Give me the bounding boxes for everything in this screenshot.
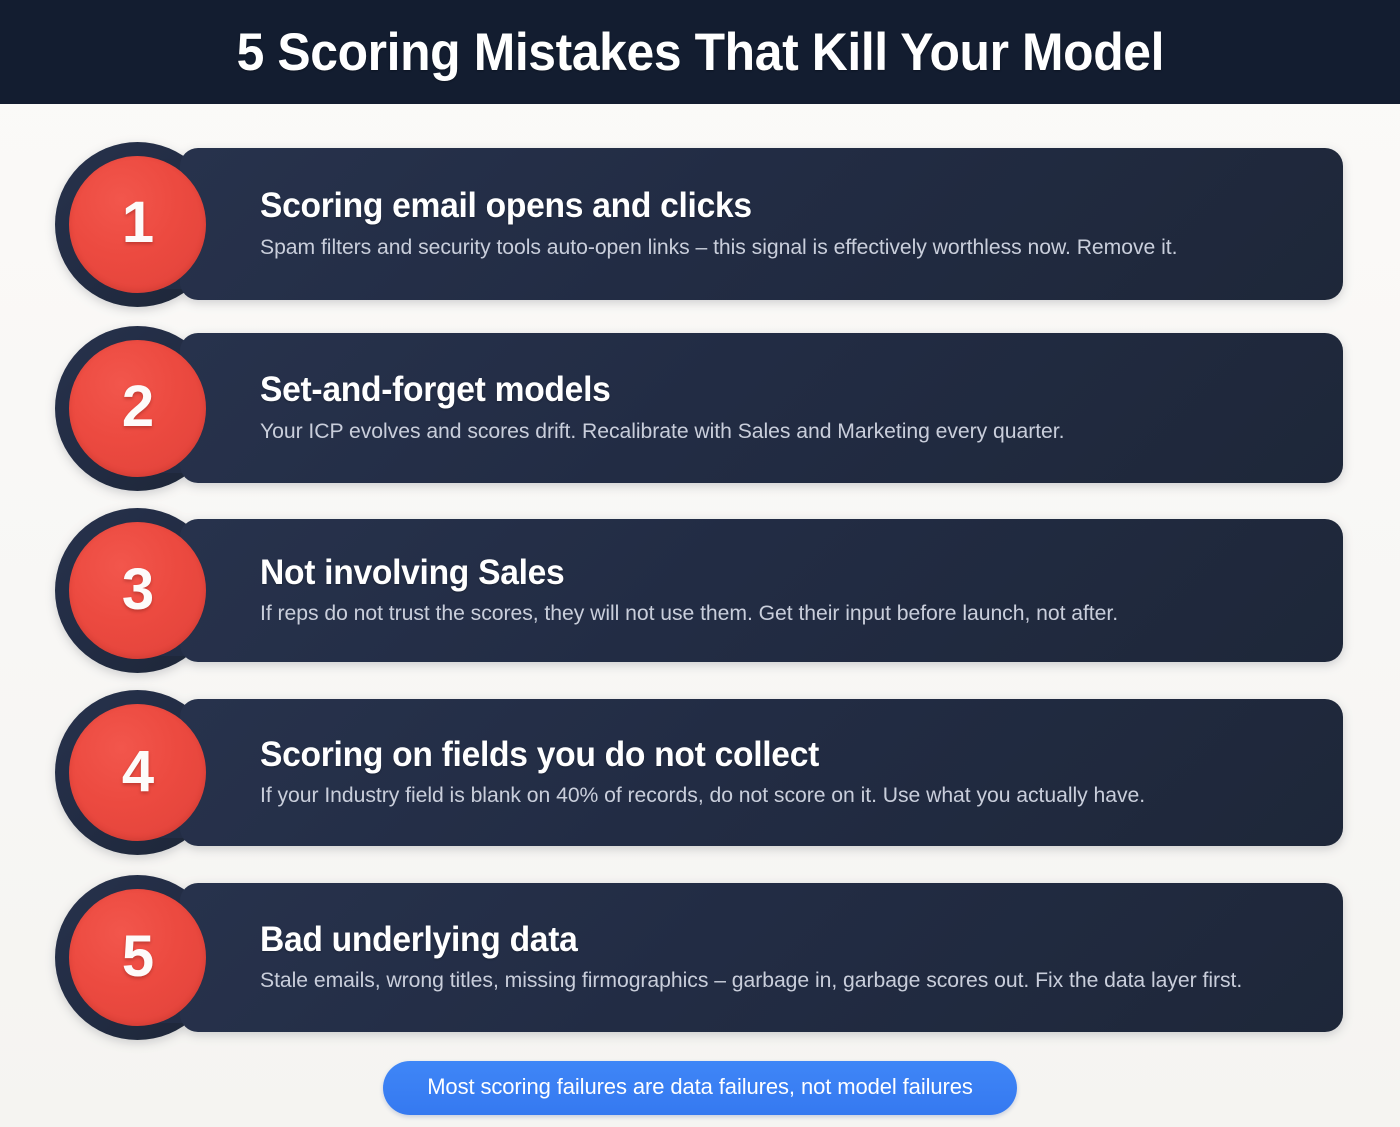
card-description: Spam filters and security tools auto-ope…: [260, 232, 1295, 262]
rank-number: 3: [122, 561, 153, 619]
header-bar: 5 Scoring Mistakes That Kill Your Model: [0, 0, 1400, 104]
card-description: If your Industry field is blank on 40% o…: [260, 780, 1295, 810]
card-content: Scoring email opens and clicksSpam filte…: [260, 186, 1311, 262]
rank-badge: 1: [69, 156, 206, 293]
card-content: Set-and-forget modelsYour ICP evolves an…: [260, 370, 1311, 446]
card-description: If reps do not trust the scores, they wi…: [260, 598, 1295, 628]
rank-badge: 3: [69, 522, 206, 659]
card-description: Your ICP evolves and scores drift. Recal…: [260, 416, 1295, 446]
card-content: Bad underlying dataStale emails, wrong t…: [260, 920, 1311, 996]
rank-badge: 4: [69, 704, 206, 841]
footer: Most scoring failures are data failures,…: [0, 1048, 1400, 1127]
mistake-card: 5Bad underlying dataStale emails, wrong …: [55, 883, 1343, 1032]
card-content: Scoring on fields you do not collectIf y…: [260, 735, 1311, 811]
card-description: Stale emails, wrong titles, missing firm…: [260, 965, 1295, 995]
rank-number: 5: [122, 928, 153, 986]
rank-number: 2: [122, 378, 153, 436]
card-heading: Scoring email opens and clicks: [260, 186, 1269, 226]
mistake-card: 4Scoring on fields you do not collectIf …: [55, 699, 1343, 846]
page-title: 5 Scoring Mistakes That Kill Your Model: [236, 26, 1164, 79]
card-heading: Bad underlying data: [260, 920, 1269, 960]
card-content: Not involving SalesIf reps do not trust …: [260, 553, 1311, 629]
card-heading: Not involving Sales: [260, 553, 1269, 593]
key-takeaway-pill: Most scoring failures are data failures,…: [383, 1061, 1017, 1115]
rank-number: 4: [122, 743, 153, 801]
mistake-card: 1Scoring email opens and clicksSpam filt…: [55, 148, 1343, 300]
infographic-page: 5 Scoring Mistakes That Kill Your Model …: [0, 0, 1400, 1127]
rank-badge: 5: [69, 889, 206, 1026]
rank-number: 1: [122, 194, 153, 252]
mistake-card-list: 1Scoring email opens and clicksSpam filt…: [0, 104, 1400, 1048]
mistake-card: 3Not involving SalesIf reps do not trust…: [55, 519, 1343, 662]
mistake-card: 2Set-and-forget modelsYour ICP evolves a…: [55, 333, 1343, 483]
card-heading: Set-and-forget models: [260, 370, 1269, 410]
rank-badge: 2: [69, 340, 206, 477]
card-heading: Scoring on fields you do not collect: [260, 735, 1269, 775]
